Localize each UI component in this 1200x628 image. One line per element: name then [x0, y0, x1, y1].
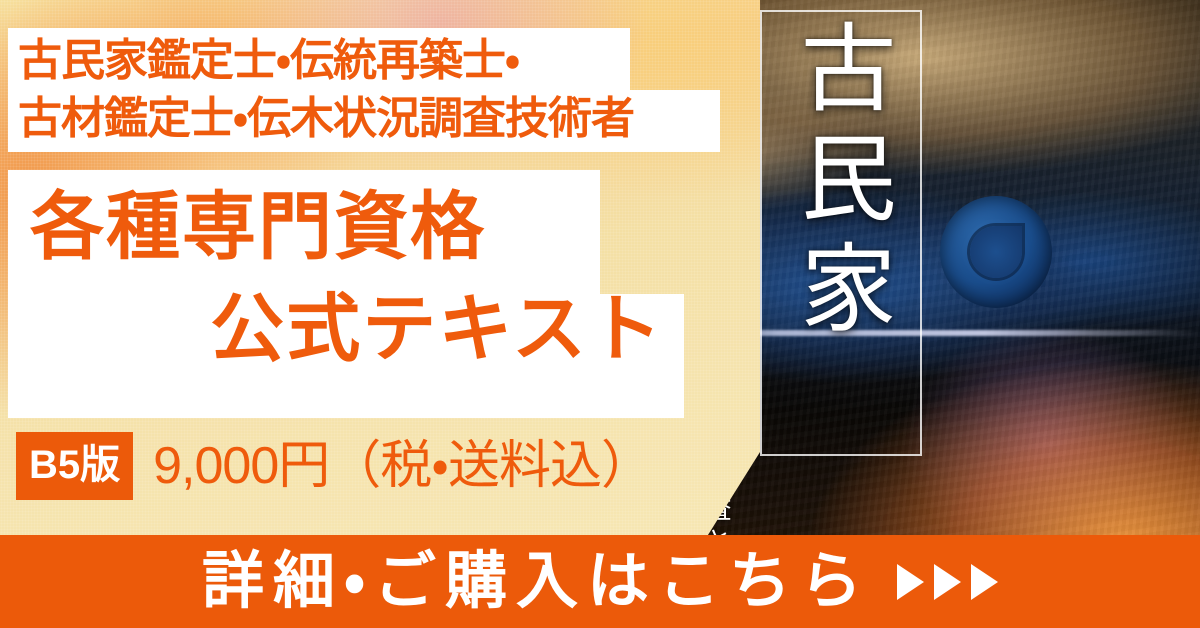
play-arrow-icon: [971, 564, 998, 600]
family-crest-icon: [940, 196, 1052, 308]
promo-banner: 古民家 伝統構法 古民家活用のための調査と再生の 古民家鑑定士・伝統再築士・ 古…: [0, 0, 1200, 628]
headline-line-2: 公式テキスト: [8, 278, 680, 380]
price-amount: 9,000円（税・送料込）: [153, 440, 652, 492]
kicker-line-1: 古民家鑑定士・伝統再築士・: [18, 36, 519, 85]
cta-bar[interactable]: 詳細・ご購入はこちら: [0, 535, 1200, 628]
cta-arrow-group: [897, 564, 998, 600]
qualification-kicker: 古民家鑑定士・伝統再築士・ 古材鑑定士・伝木状況調査技術者: [18, 32, 724, 148]
cta-label[interactable]: 詳細・ご購入はこちら: [202, 551, 871, 613]
play-arrow-icon: [934, 564, 961, 600]
play-arrow-icon: [897, 564, 924, 600]
price-row: B5版 9,000円（税・送料込）: [16, 432, 652, 500]
kicker-line-2: 古材鑑定士・伝木状況調査技術者: [18, 90, 724, 148]
book-title-vertical: 古民家: [768, 18, 898, 348]
format-badge: B5版: [16, 432, 133, 500]
headline-line-1: 各種専門資格: [8, 176, 680, 278]
headline: 各種専門資格 公式テキスト: [8, 176, 680, 380]
